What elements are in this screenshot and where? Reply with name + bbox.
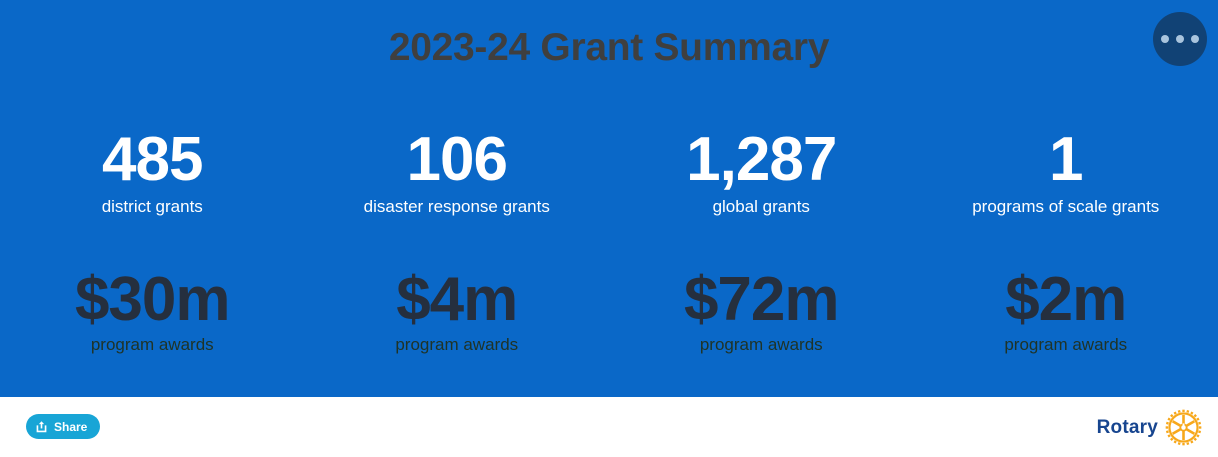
page-title: 2023-24 Grant Summary — [0, 26, 1218, 70]
stat-label: district grants — [6, 197, 299, 217]
grant-counts-row: 485 district grants 106 disaster respons… — [0, 128, 1218, 218]
share-export-icon — [35, 420, 48, 433]
stat-value: 1 — [920, 128, 1213, 191]
stat-district-grants: 485 district grants — [0, 128, 305, 218]
stat-disaster-response-grants: 106 disaster response grants — [305, 128, 610, 218]
award-disaster-response-grants: $4m program awards — [305, 268, 610, 356]
award-value: $30m — [6, 268, 299, 331]
share-button[interactable]: Share — [26, 414, 100, 439]
summary-panel: 2023-24 Grant Summary 485 district grant… — [0, 0, 1218, 397]
stat-value: 106 — [311, 128, 604, 191]
award-programs-of-scale-grants: $2m program awards — [914, 268, 1218, 356]
award-label: program awards — [920, 335, 1213, 355]
stat-programs-of-scale-grants: 1 programs of scale grants — [914, 128, 1218, 218]
award-label: program awards — [311, 335, 604, 355]
award-global-grants: $72m program awards — [609, 268, 914, 356]
program-awards-row: $30m program awards $4m program awards $… — [0, 268, 1218, 356]
stat-global-grants: 1,287 global grants — [609, 128, 914, 218]
stat-value: 1,287 — [615, 128, 908, 191]
grant-summary-infographic: 2023-24 Grant Summary 485 district grant… — [0, 0, 1218, 457]
award-label: program awards — [6, 335, 299, 355]
rotary-brand-logo: Rotary — [1097, 409, 1202, 446]
stat-label: disaster response grants — [311, 197, 604, 217]
award-value: $72m — [615, 268, 908, 331]
award-label: program awards — [615, 335, 908, 355]
award-district-grants: $30m program awards — [0, 268, 305, 356]
footer-bar: Share Rotary — [0, 397, 1218, 457]
brand-name: Rotary — [1097, 417, 1158, 439]
award-value: $2m — [920, 268, 1213, 331]
stat-label: programs of scale grants — [920, 197, 1213, 217]
rotary-gear-wheel-icon — [1165, 409, 1202, 446]
award-value: $4m — [311, 268, 604, 331]
stat-label: global grants — [615, 197, 908, 217]
stat-value: 485 — [6, 128, 299, 191]
share-button-label: Share — [54, 421, 87, 433]
